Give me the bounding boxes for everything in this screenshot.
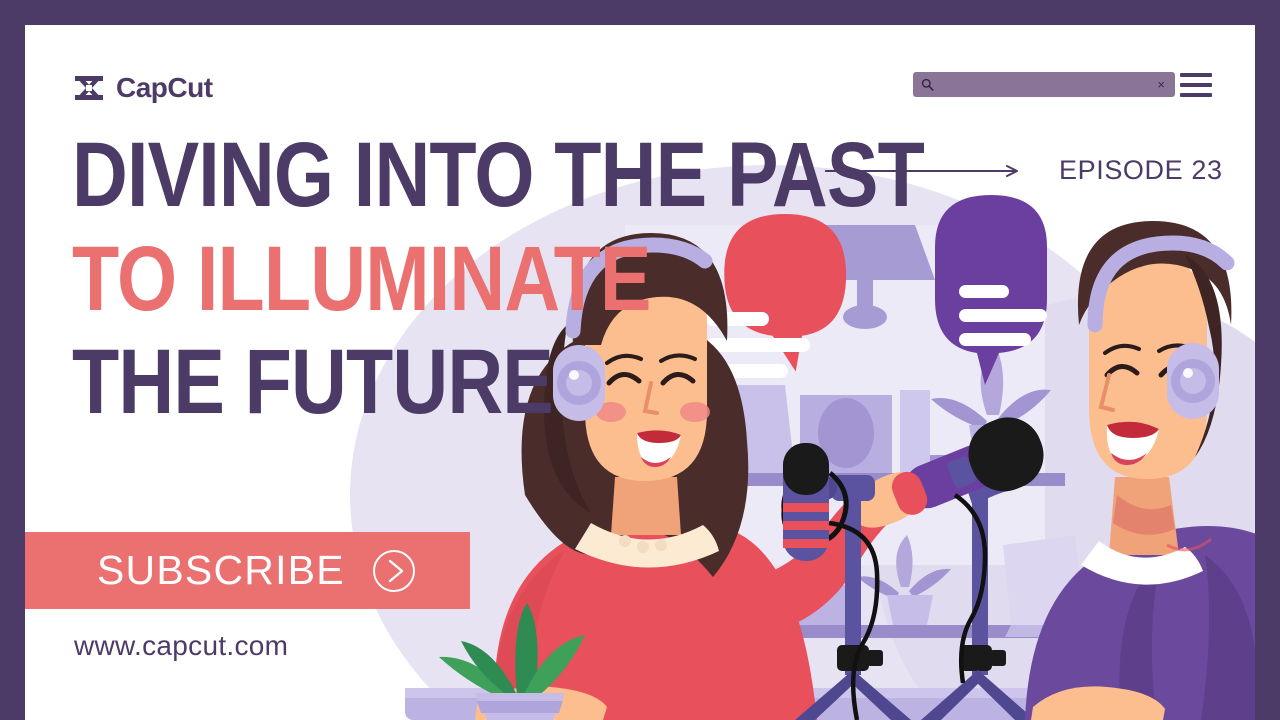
subscribe-button[interactable]: SUBSCRIBE [25, 532, 470, 609]
episode-indicator: EPISODE 23 [825, 155, 1223, 186]
search-bar[interactable]: × [913, 72, 1175, 97]
menu-bar-1 [1180, 73, 1212, 77]
menu-bar-3 [1180, 93, 1212, 97]
title-line-3: THE FUTURE [72, 340, 924, 426]
arrow-right-icon [825, 164, 1025, 178]
search-input[interactable] [934, 79, 1155, 91]
menu-bar-2 [1180, 83, 1212, 87]
brand-logo[interactable]: CapCut [72, 73, 213, 103]
poster-canvas: CapCut × DIVING INTO THE PAST TO ILLUMIN… [0, 0, 1280, 720]
title-line-2: TO ILLUMINATE [72, 237, 924, 323]
episode-label: EPISODE 23 [1059, 155, 1223, 186]
website-url: www.capcut.com [74, 630, 288, 662]
capcut-logo-icon [72, 73, 106, 103]
poster-inner-card: CapCut × DIVING INTO THE PAST TO ILLUMIN… [25, 25, 1255, 720]
subscribe-label: SUBSCRIBE [97, 547, 345, 594]
close-icon[interactable]: × [1155, 78, 1167, 91]
title-line-1: DIVING INTO THE PAST [72, 133, 924, 219]
search-icon [921, 78, 934, 91]
chevron-right-circle-icon [371, 548, 417, 594]
brand-name: CapCut [116, 74, 213, 102]
hamburger-menu-icon[interactable] [1180, 70, 1212, 100]
